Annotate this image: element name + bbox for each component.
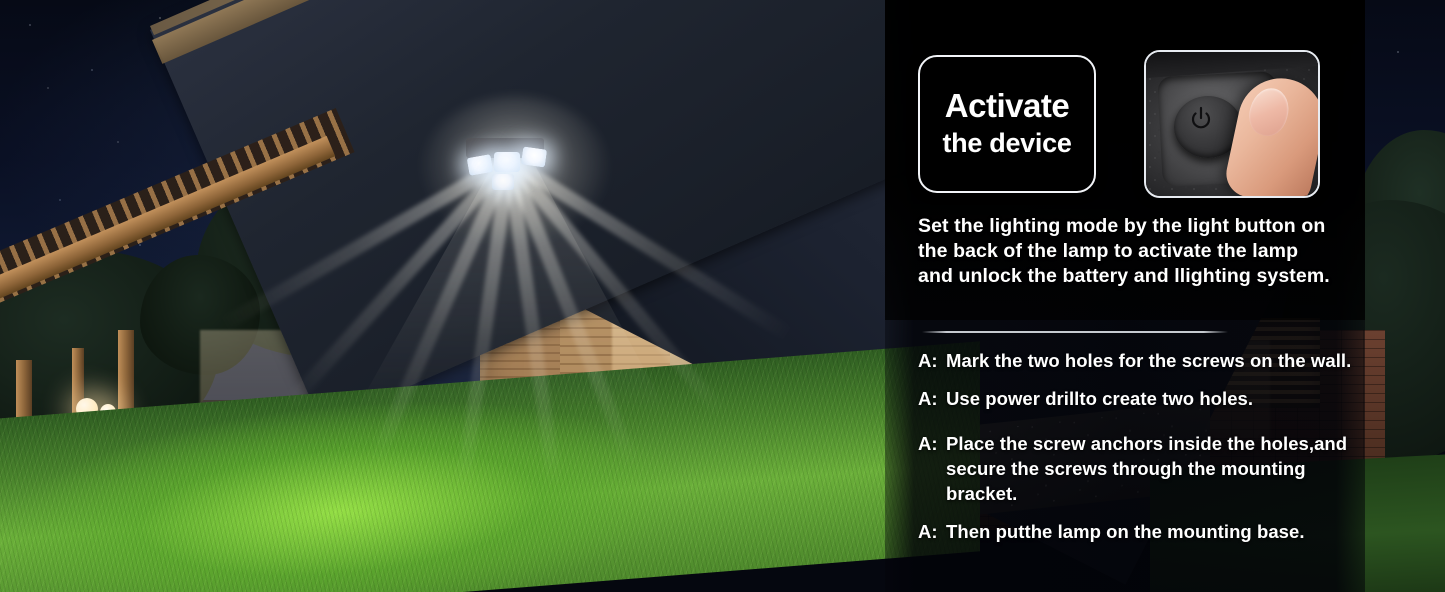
- power-button-icon: [1186, 104, 1216, 134]
- activate-badge: Activate the device: [918, 55, 1096, 193]
- list-item: A: Then putthe lamp on the mounting base…: [918, 519, 1358, 544]
- activate-title-line2: the device: [942, 128, 1071, 159]
- instruction-paragraph: Set the lighting mode by the light butto…: [918, 214, 1336, 289]
- list-item: A: Place the screw anchors inside the ho…: [918, 431, 1358, 506]
- list-item: A: Mark the two holes for the screws on …: [918, 348, 1358, 373]
- steps-list: A: Mark the two holes for the screws on …: [918, 348, 1358, 557]
- step-key: A:: [918, 519, 946, 544]
- power-button-photo: [1144, 50, 1320, 198]
- lamp-head-lower: [492, 174, 514, 190]
- step-text: Then putthe lamp on the mounting base.: [946, 519, 1305, 544]
- step-key: A:: [918, 386, 946, 411]
- step-text: Use power drillto create two holes.: [946, 386, 1253, 411]
- step-text: Mark the two holes for the screws on the…: [946, 348, 1351, 373]
- activate-title-line1: Activate: [945, 89, 1069, 123]
- lamp-head-center: [494, 152, 520, 172]
- section-divider: [922, 331, 1228, 333]
- step-key: A:: [918, 431, 946, 506]
- step-key: A:: [918, 348, 946, 373]
- list-item: A: Use power drillto create two holes.: [918, 386, 1358, 411]
- screenshot-canvas: Activate the device Set the lighting mod…: [0, 0, 1445, 592]
- lamp-head-right: [521, 146, 547, 167]
- step-text: Place the screw anchors inside the holes…: [946, 431, 1358, 506]
- instruction-panel: Activate the device Set the lighting mod…: [885, 0, 1445, 592]
